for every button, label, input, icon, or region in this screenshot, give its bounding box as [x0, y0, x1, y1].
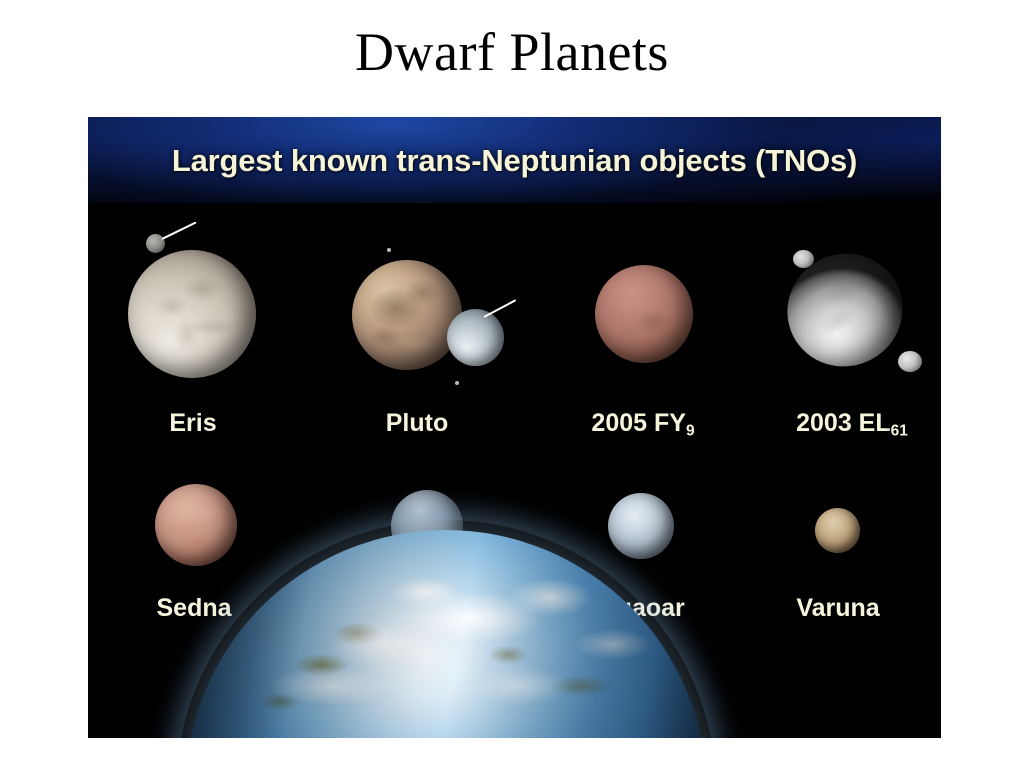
eris-surface-texture: [128, 250, 256, 378]
body-pluto: [352, 260, 462, 370]
body-eris: [128, 250, 256, 378]
body-sedna: [155, 484, 237, 566]
body-quaoar: [608, 493, 674, 559]
moon-2003-el61-lower: [898, 351, 922, 372]
body-label-eris: Eris: [103, 409, 283, 438]
figure-banner-title: Largest known trans-Neptunian objects (T…: [88, 143, 941, 179]
earth-terminator-shading: [186, 530, 706, 738]
moon-charon: [447, 309, 504, 366]
body-varuna: [815, 508, 860, 553]
body-label-2003-el61-subscript: 61: [891, 422, 908, 439]
body-label-2003-el61: 2003 EL61: [762, 409, 941, 440]
pluto-surface-texture: [352, 260, 462, 370]
body-2005-fy9: [595, 265, 693, 363]
pluto-small-moon-dot-upper: [387, 248, 391, 252]
moon-2003-el61-upper: [793, 250, 814, 268]
fy9-surface-texture: [595, 265, 693, 363]
page-title: Dwarf Planets: [0, 24, 1024, 81]
figure-banner: Largest known trans-Neptunian objects (T…: [88, 117, 941, 203]
sedna-surface-texture: [155, 484, 237, 566]
body-label-pluto: Pluto: [327, 409, 507, 438]
body-label-2005-fy9-subscript: 9: [686, 422, 695, 439]
dysnomia-leader-line: [162, 221, 197, 239]
charon-leader-line: [484, 299, 517, 318]
body-label-2005-fy9-main: 2005 FY: [591, 409, 686, 437]
body-earth: [186, 530, 706, 738]
body-label-varuna: Varuna: [748, 594, 928, 623]
body-label-2005-fy9: 2005 FY9: [553, 409, 733, 440]
pluto-small-moon-dot-lower: [455, 381, 459, 385]
tno-comparison-figure: Largest known trans-Neptunian objects (T…: [88, 117, 941, 738]
body-label-2003-el61-main: 2003 EL: [796, 409, 891, 437]
